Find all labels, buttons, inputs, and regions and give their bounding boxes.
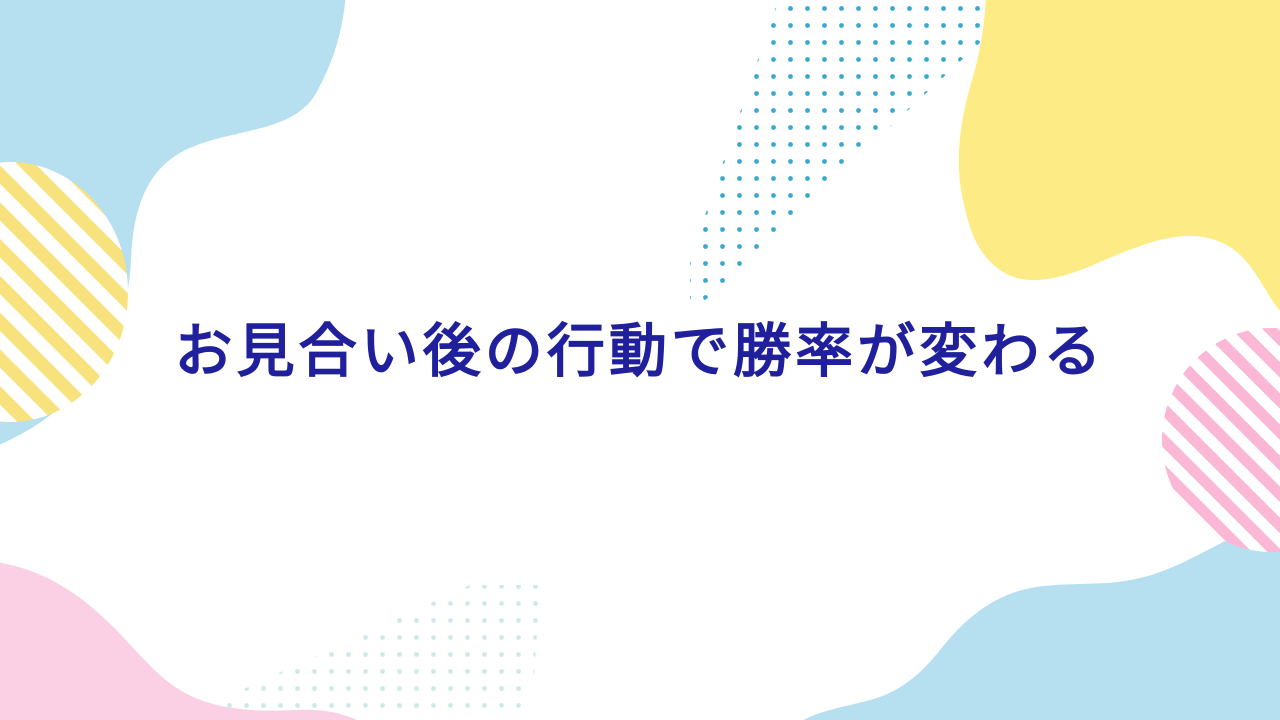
slide-canvas: お見合い後の行動で勝率が変わる [0, 0, 1280, 720]
page-title: お見合い後の行動で勝率が変わる [175, 317, 1106, 387]
title-container: お見合い後の行動で勝率が変わる [0, 0, 1280, 720]
